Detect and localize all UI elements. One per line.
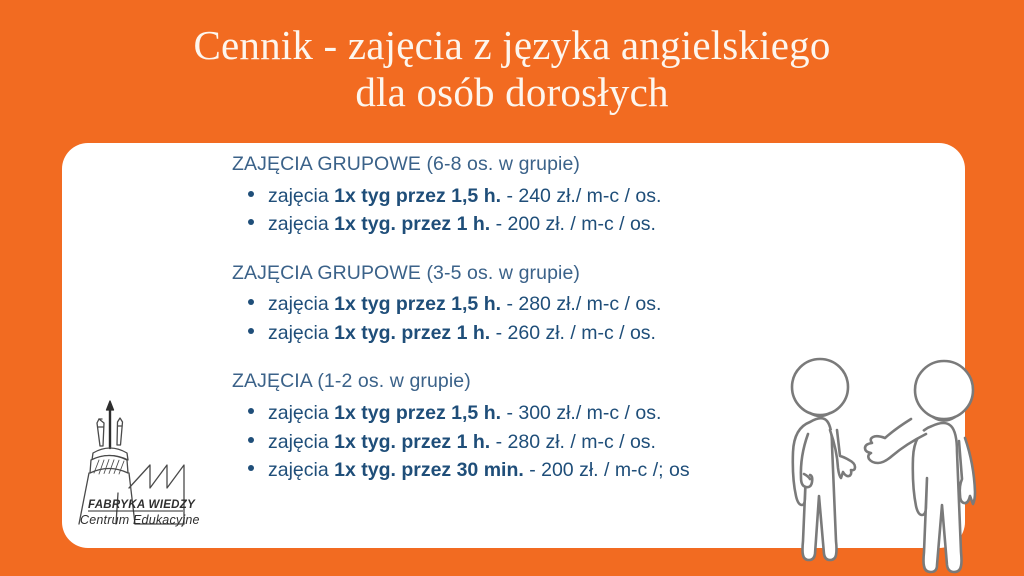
price-item-text: zajęcia 1x tyg. przez 1 h. - 280 zł. / m… (268, 433, 656, 453)
price-item-strong: 1x tyg. przez 1 h. (334, 322, 490, 344)
price-item-strong: 1x tyg. przez 1 h. (334, 213, 490, 235)
price-section-heading: ZAJĘCIA (1-2 os. w grupie) (232, 369, 832, 395)
price-item-lead: zajęcia (268, 402, 334, 424)
title-line-1: Cennik - zajęcia z języka angielskiego (0, 22, 1024, 69)
bullet-icon (248, 328, 254, 334)
price-item-lead: zajęcia (268, 322, 334, 344)
price-item-strong: 1x tyg. przez 1 h. (334, 431, 490, 453)
price-section-heading: ZAJĘCIA GRUPOWE (3-5 os. w grupie) (232, 261, 832, 287)
price-item-tail: - 300 zł./ m-c / os. (501, 402, 661, 424)
slide-canvas: Cennik - zajęcia z języka angielskiego d… (0, 0, 1024, 576)
page-title: Cennik - zajęcia z języka angielskiego d… (0, 22, 1024, 115)
bullet-icon (248, 219, 254, 225)
price-item-tail: - 200 zł. / m-c / os. (490, 213, 656, 235)
price-item-lead: zajęcia (268, 431, 334, 453)
price-item: zajęcia 1x tyg przez 1,5 h. - 300 zł./ m… (232, 404, 832, 424)
title-line-2: dla osób dorosłych (0, 69, 1024, 116)
price-item-text: zajęcia 1x tyg. przez 1 h. - 260 zł. / m… (268, 324, 656, 344)
price-item-tail: - 240 zł./ m-c / os. (501, 185, 661, 207)
price-item-strong: 1x tyg przez 1,5 h. (334, 293, 501, 315)
price-item-lead: zajęcia (268, 459, 334, 481)
bullet-icon (248, 299, 254, 305)
price-section: ZAJĘCIA GRUPOWE (6-8 os. w grupie) zajęc… (232, 152, 832, 235)
company-logo: FABRYKA WIEDZY Centrum Edukacyjne (72, 393, 207, 528)
price-item-tail: - 280 zł. / m-c / os. (490, 431, 656, 453)
price-item-strong: 1x tyg. przez 30 min. (334, 459, 524, 481)
two-people-illustration (772, 330, 1024, 576)
price-item-text: zajęcia 1x tyg przez 1,5 h. - 280 zł./ m… (268, 295, 661, 315)
price-section: ZAJĘCIA GRUPOWE (3-5 os. w grupie) zajęc… (232, 261, 832, 344)
price-item-strong: 1x tyg przez 1,5 h. (334, 185, 501, 207)
price-item-text: zajęcia 1x tyg przez 1,5 h. - 240 zł./ m… (268, 187, 661, 207)
price-item: zajęcia 1x tyg przez 1,5 h. - 240 zł./ m… (232, 187, 832, 207)
price-section-heading: ZAJĘCIA GRUPOWE (6-8 os. w grupie) (232, 152, 832, 178)
price-item: zajęcia 1x tyg. przez 1 h. - 280 zł. / m… (232, 433, 832, 453)
bullet-icon (248, 408, 254, 414)
price-item-text: zajęcia 1x tyg. przez 1 h. - 200 zł. / m… (268, 215, 656, 235)
bullet-icon (248, 191, 254, 197)
price-item-tail: - 200 zł. / m-c /; os (524, 459, 690, 481)
price-item-tail: - 260 zł. / m-c / os. (490, 322, 656, 344)
price-item-lead: zajęcia (268, 293, 334, 315)
price-list: ZAJĘCIA GRUPOWE (6-8 os. w grupie) zajęc… (232, 152, 832, 481)
price-item: zajęcia 1x tyg przez 1,5 h. - 280 zł./ m… (232, 295, 832, 315)
price-item: zajęcia 1x tyg. przez 30 min. - 200 zł. … (232, 461, 832, 481)
price-section: ZAJĘCIA (1-2 os. w grupie) zajęcia 1x ty… (232, 369, 832, 480)
price-item-text: zajęcia 1x tyg. przez 30 min. - 200 zł. … (268, 461, 690, 481)
bullet-icon (248, 437, 254, 443)
price-item: zajęcia 1x tyg. przez 1 h. - 200 zł. / m… (232, 215, 832, 235)
svg-text:FABRYKA WIEDZY: FABRYKA WIEDZY (88, 499, 196, 511)
svg-text:Centrum Edukacyjne: Centrum Edukacyjne (80, 513, 200, 527)
price-item-strong: 1x tyg przez 1,5 h. (334, 402, 501, 424)
price-item-lead: zajęcia (268, 185, 334, 207)
price-item-lead: zajęcia (268, 213, 334, 235)
price-item-tail: - 280 zł./ m-c / os. (501, 293, 661, 315)
price-item-text: zajęcia 1x tyg przez 1,5 h. - 300 zł./ m… (268, 404, 661, 424)
price-item: zajęcia 1x tyg. przez 1 h. - 260 zł. / m… (232, 324, 832, 344)
bullet-icon (248, 465, 254, 471)
